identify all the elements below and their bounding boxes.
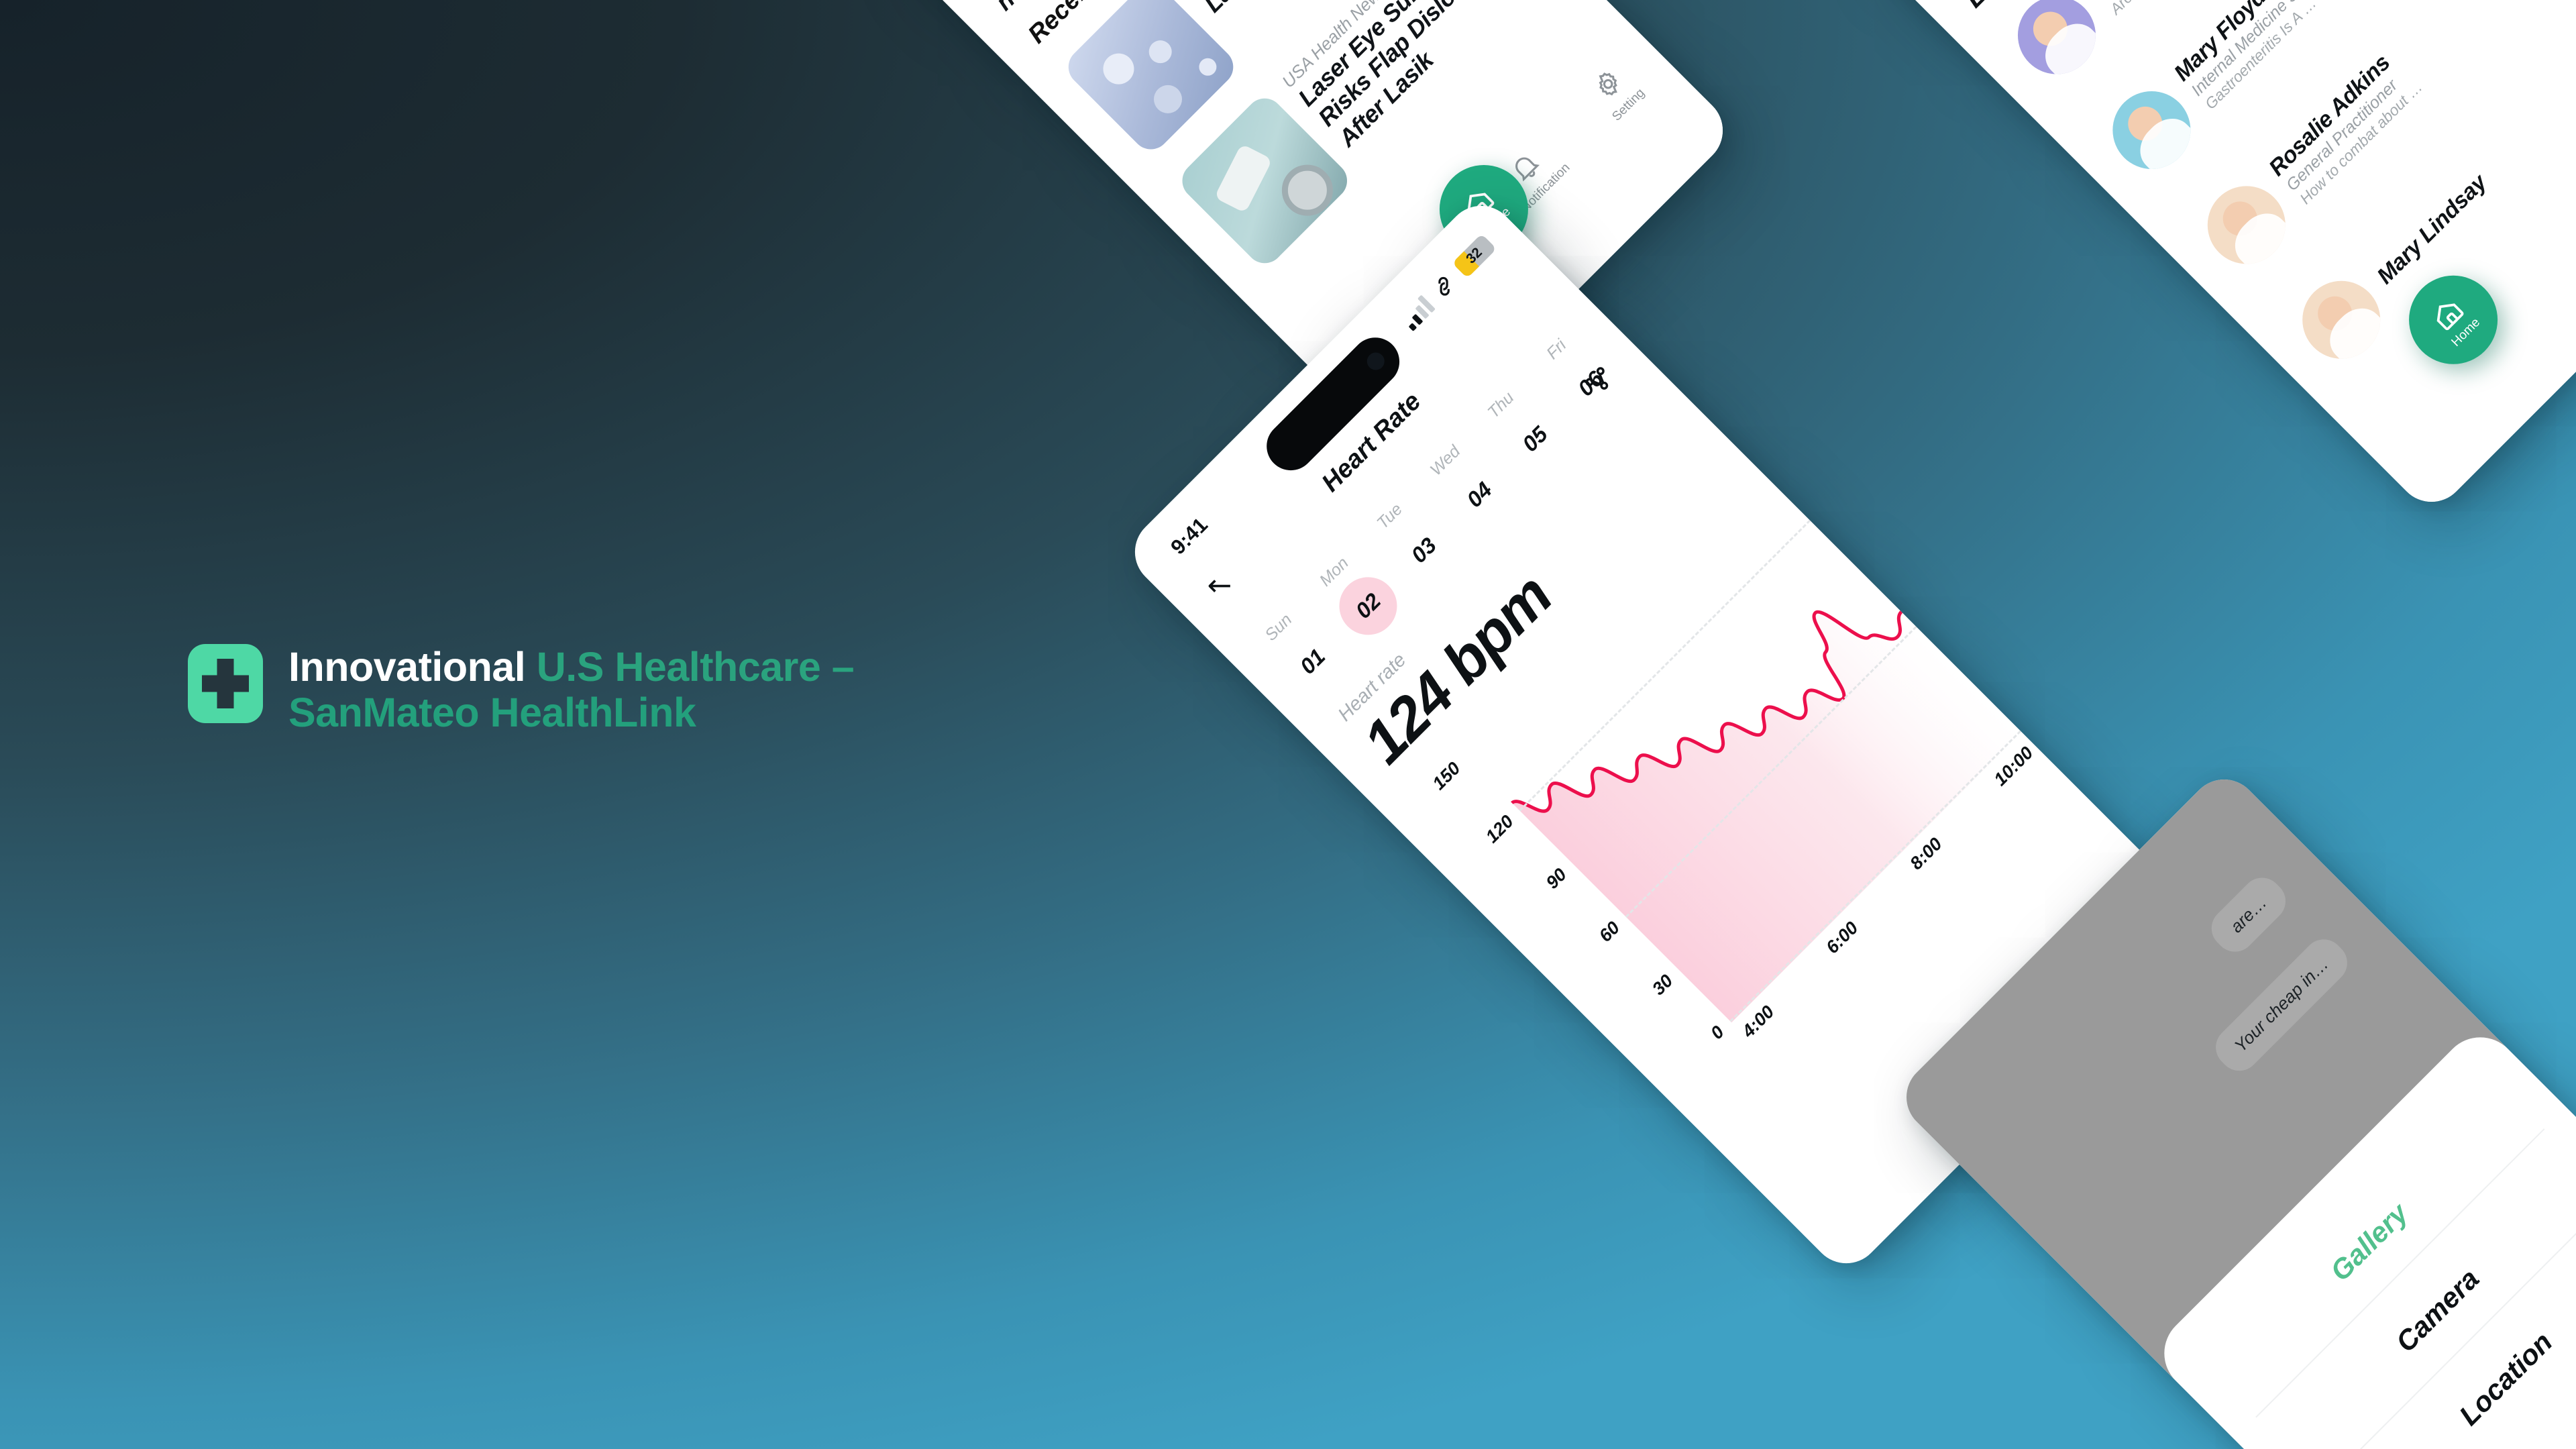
- y-tick: 60: [1595, 918, 1624, 947]
- dynamic-island: [1256, 327, 1409, 480]
- y-tick: 30: [1648, 971, 1677, 1000]
- brand-lockup: Innovational U.S Healthcare – SanMateo H…: [188, 644, 854, 736]
- brand-line1-white: Innovational: [288, 644, 525, 690]
- battery-indicator: 32: [1452, 233, 1497, 278]
- chat-bubble: Your cheap in…: [2208, 931, 2356, 1079]
- battery-level: 32: [1463, 245, 1485, 267]
- action-sheet: Gallery Camera Location: [2148, 1021, 2576, 1449]
- y-tick: 120: [1482, 811, 1518, 847]
- poster-canvas: Innovational U.S Healthcare – SanMateo H…: [0, 0, 2576, 1449]
- avatar: [2192, 170, 2302, 280]
- y-tick: 90: [1542, 864, 1571, 893]
- y-tick: 150: [1429, 758, 1465, 794]
- chat-bubble: are…: [2204, 869, 2294, 960]
- brand-title: Innovational U.S Healthcare – SanMateo H…: [288, 644, 854, 736]
- signal-bars-icon: [1399, 295, 1435, 331]
- y-tick: 0: [1707, 1022, 1729, 1044]
- brand-line2: SanMateo HealthLink: [288, 690, 854, 735]
- status-time: 9:41: [1166, 513, 1212, 559]
- avatar: [2002, 0, 2112, 91]
- brand-line1-green: U.S Healthcare –: [537, 644, 854, 690]
- article-headline: Laser Eye Surgery Risks Flap Dislocation…: [1293, 0, 1539, 152]
- nav-item-setting[interactable]: Setting: [1570, 46, 1662, 138]
- article-thumbnail: [1061, 0, 1241, 157]
- link-icon: [1426, 268, 1462, 305]
- avatar: [2096, 75, 2206, 185]
- doctor-list-phone-mockup: Psychologist Dr. Rosalie G. Practitioner…: [1758, 0, 2576, 517]
- medical-cross-icon: [188, 644, 263, 723]
